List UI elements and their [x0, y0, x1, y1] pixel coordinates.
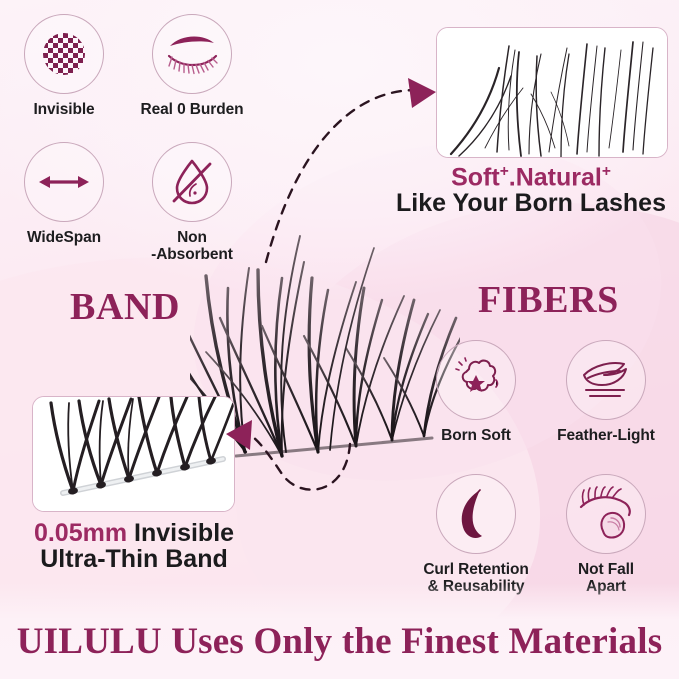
feature-circle: [152, 14, 232, 94]
lash-band-base: [236, 438, 432, 456]
lash-fingertip-icon: [577, 487, 635, 541]
band-caption-line-2: Ultra-Thin Band: [8, 545, 260, 573]
feature-label: WideSpan: [0, 229, 128, 246]
feature-label: Non -Absorbent: [128, 229, 256, 264]
checkered-sphere-icon: [37, 27, 91, 81]
closed-eye-lash-icon: [164, 30, 220, 78]
feature-circle: [436, 474, 516, 554]
band-caption-invisible: Invisible: [127, 519, 234, 547]
feature-circle: [152, 142, 232, 222]
double-arrow-icon: [36, 169, 92, 195]
fiber-closeup-photo-card[interactable]: [436, 27, 668, 158]
feature-not-fall-apart[interactable]: Not Fall Apart: [542, 474, 670, 596]
fiber-closeup-photo: [437, 28, 668, 158]
feature-circle: [24, 142, 104, 222]
fiber-caption-soft: Soft: [451, 163, 500, 191]
lash-stray: [281, 236, 300, 452]
fiber-caption-natural: .Natural: [509, 163, 602, 191]
fiber-caption-plus-1: +: [500, 163, 509, 180]
feature-real-0-burden[interactable]: Real 0 Burden: [128, 14, 256, 118]
band-caption-thickness: 0.05mm: [34, 519, 127, 547]
band-caption-line-1: 0.05mm Invisible: [8, 519, 260, 547]
fiber-caption-line-2: Like Your Born Lashes: [386, 189, 676, 217]
feature-circle: [24, 14, 104, 94]
band-closeup-photo-card[interactable]: [32, 396, 235, 512]
fiber-card-caption: Soft+.Natural+ Like Your Born Lashes: [386, 163, 676, 217]
section-heading-fibers: FIBERS: [478, 278, 619, 322]
feature-label: Born Soft: [412, 427, 540, 444]
feature-circle: [566, 340, 646, 420]
curl-crescent-icon: [450, 486, 502, 542]
band-closeup-photo: [33, 397, 235, 512]
feature-widespan[interactable]: WideSpan: [0, 142, 128, 246]
fiber-caption-line-1: Soft+.Natural+: [386, 163, 676, 191]
feature-label: Feather-Light: [542, 427, 670, 444]
feature-born-soft[interactable]: Born Soft: [412, 340, 540, 444]
feature-invisible[interactable]: Invisible: [0, 14, 128, 118]
feature-label: Invisible: [0, 101, 128, 118]
feather-icon: [578, 358, 634, 402]
feature-non-absorbent[interactable]: Non -Absorbent: [128, 142, 256, 264]
bottom-banner-text: UILULU Uses Only the Finest Materials: [0, 620, 679, 663]
feature-circle: [566, 474, 646, 554]
no-water-drop-icon: [168, 156, 216, 208]
product-feature-poster: Invisible Real 0 Burden: [0, 0, 679, 679]
cotton-flower-icon: [449, 354, 503, 406]
feature-circle: [436, 340, 516, 420]
fiber-caption-plus-2: +: [602, 163, 611, 180]
section-heading-band: BAND: [70, 285, 180, 329]
feature-curl-retention[interactable]: Curl Retention & Reusability: [412, 474, 540, 596]
feature-feather-light[interactable]: Feather-Light: [542, 340, 670, 444]
feature-label: Real 0 Burden: [128, 101, 256, 118]
band-card-caption: 0.05mm Invisible Ultra-Thin Band: [8, 519, 260, 573]
